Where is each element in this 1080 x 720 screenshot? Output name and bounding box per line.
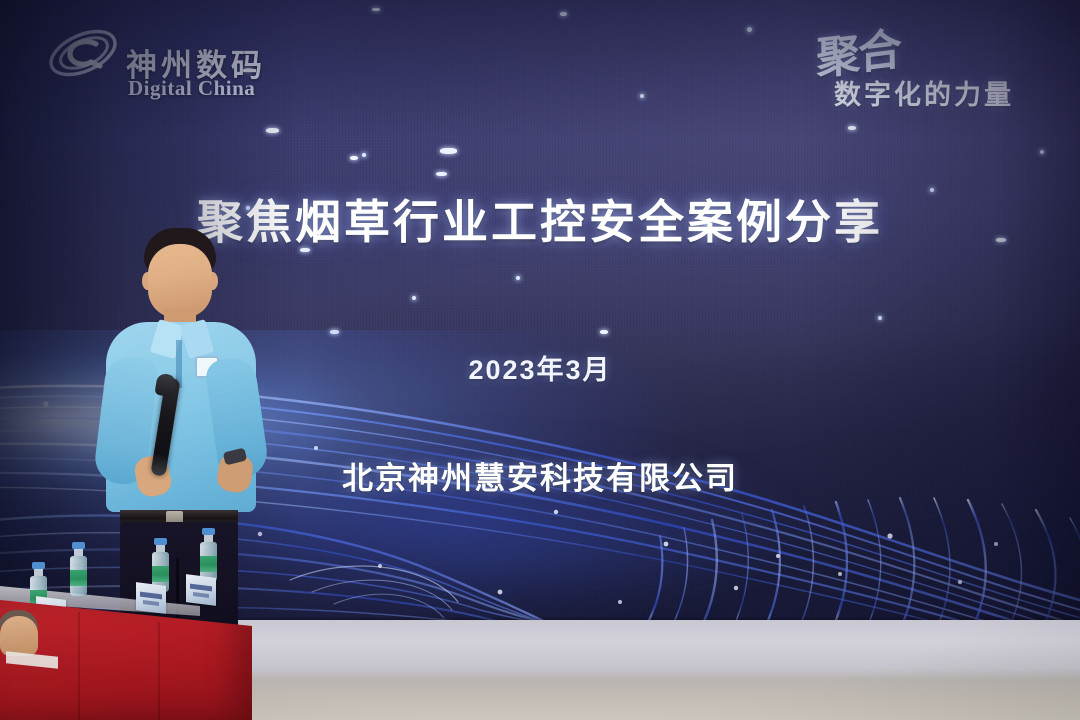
light-particle [747, 27, 752, 32]
name-placard [136, 582, 166, 614]
light-particle [440, 148, 457, 154]
table-cloth-fold [158, 622, 160, 720]
light-particle [350, 156, 358, 160]
light-particle [878, 316, 882, 320]
light-particle [362, 153, 366, 157]
brand-name-en: Digital China [128, 76, 255, 101]
brand-logo: 神州数码 Digital China [44, 16, 294, 94]
table-cloth-fold [78, 612, 80, 720]
light-particle [560, 12, 567, 16]
audience-table [0, 586, 262, 720]
digital-china-spiral-icon [44, 20, 122, 86]
light-particle [372, 8, 380, 11]
conference-stage-photo: 聚焦烟草行业工控安全案例分享 2023年3月 北京神州慧安科技有限公司 神州数码… [0, 0, 1080, 720]
water-bottle [70, 542, 87, 612]
light-particle [412, 296, 416, 300]
light-particle [436, 172, 447, 176]
presenter [92, 228, 272, 628]
event-logo: 聚合 数字化的力量 [794, 18, 1054, 110]
light-particle [1040, 150, 1044, 154]
light-particle [516, 276, 520, 280]
microphone-head [154, 373, 176, 398]
light-particle [266, 128, 279, 133]
attendee-head [0, 616, 38, 656]
light-particle [848, 126, 856, 130]
event-subtitle: 数字化的力量 [834, 73, 1014, 112]
light-particle [640, 94, 644, 98]
name-placard [186, 574, 216, 606]
presenter-face [148, 244, 212, 318]
